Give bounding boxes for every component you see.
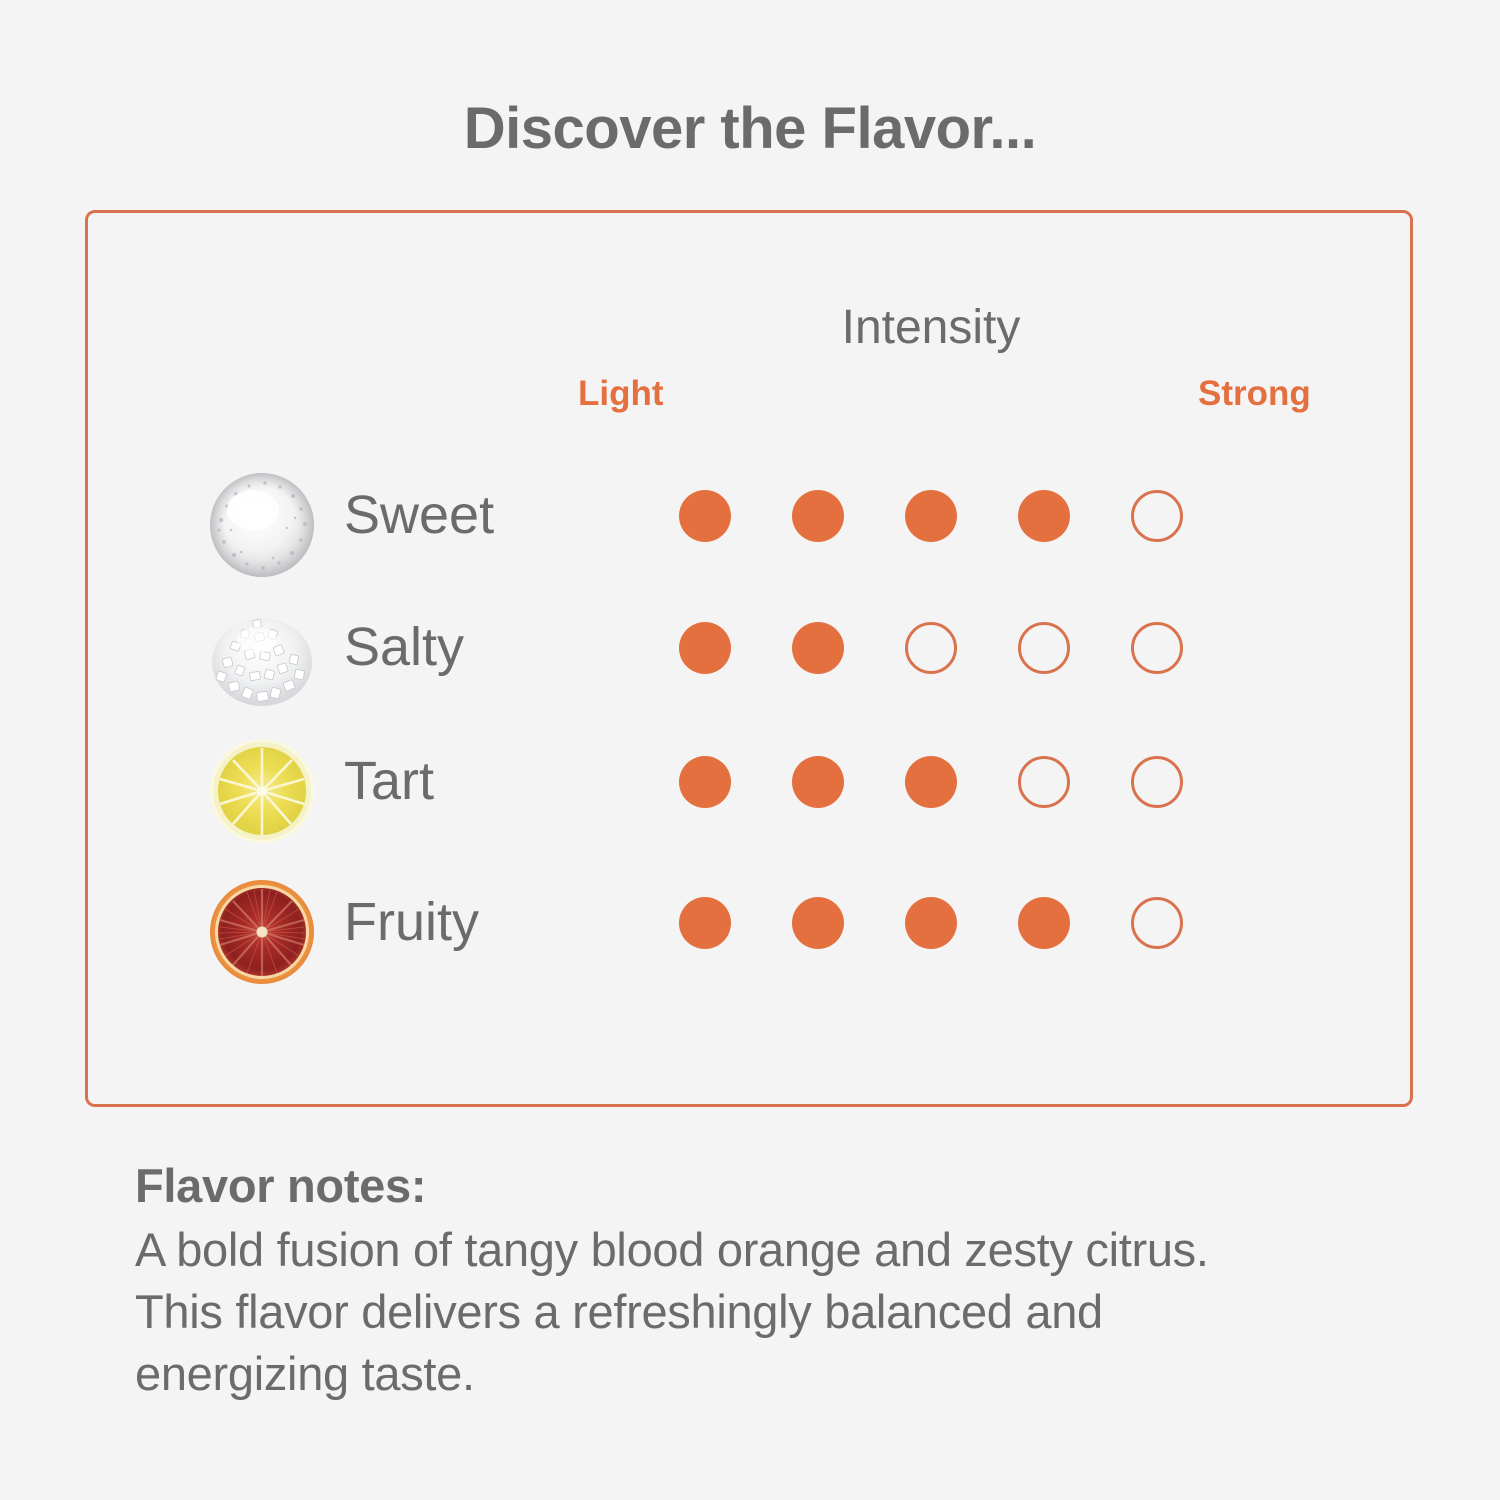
flavor-row-salty: Salty — [0, 590, 1500, 724]
flavor-label: Fruity — [344, 890, 479, 954]
rating-dot[interactable] — [905, 622, 957, 674]
rating-dots-sweet — [679, 490, 1209, 560]
rating-dot[interactable] — [1018, 622, 1070, 674]
flavor-label: Salty — [344, 615, 464, 679]
rating-dot[interactable] — [792, 490, 844, 542]
rating-dot[interactable] — [1131, 756, 1183, 808]
flavor-notes-line-3: energizing taste. — [135, 1343, 1435, 1405]
flavor-row-fruity: Fruity — [0, 865, 1500, 999]
rating-dot[interactable] — [679, 622, 731, 674]
flavor-row-tart: Tart — [0, 724, 1500, 858]
rating-dot[interactable] — [792, 897, 844, 949]
flavor-row-sweet: Sweet — [0, 458, 1500, 592]
rating-dot[interactable] — [1018, 490, 1070, 542]
rating-dot[interactable] — [792, 756, 844, 808]
page-title: Discover the Flavor... — [0, 95, 1500, 162]
flavor-notes-line-2: This flavor delivers a refreshingly bala… — [135, 1281, 1435, 1343]
rating-dot[interactable] — [792, 622, 844, 674]
flavor-notes-body: A bold fusion of tangy blood orange and … — [135, 1219, 1435, 1405]
sugar-pile-icon — [205, 468, 319, 582]
flavor-label: Sweet — [344, 483, 494, 547]
rating-dot[interactable] — [1131, 897, 1183, 949]
rating-dots-tart — [679, 756, 1209, 826]
rating-dot[interactable] — [905, 756, 957, 808]
rating-dot[interactable] — [905, 490, 957, 542]
rating-dot[interactable] — [1018, 897, 1070, 949]
rating-dots-fruity — [679, 897, 1209, 967]
rating-dot[interactable] — [679, 756, 731, 808]
flavor-notes-line-1: A bold fusion of tangy blood orange and … — [135, 1219, 1435, 1281]
rating-dot[interactable] — [679, 490, 731, 542]
salt-crystals-icon — [205, 600, 319, 714]
blood-orange-slice-icon — [205, 875, 319, 989]
rating-dot[interactable] — [1131, 490, 1183, 542]
flavor-notes-heading: Flavor notes: — [135, 1155, 1435, 1217]
intensity-heading: Intensity — [648, 300, 1214, 355]
scale-label-strong: Strong — [1198, 374, 1311, 414]
rating-dot[interactable] — [905, 897, 957, 949]
rating-dots-salty — [679, 622, 1209, 692]
flavor-label: Tart — [344, 749, 434, 813]
flavor-notes: Flavor notes: A bold fusion of tangy blo… — [135, 1155, 1435, 1405]
rating-dot[interactable] — [1131, 622, 1183, 674]
scale-label-light: Light — [578, 374, 664, 414]
rating-dot[interactable] — [679, 897, 731, 949]
lemon-slice-icon — [205, 734, 319, 848]
rating-dot[interactable] — [1018, 756, 1070, 808]
